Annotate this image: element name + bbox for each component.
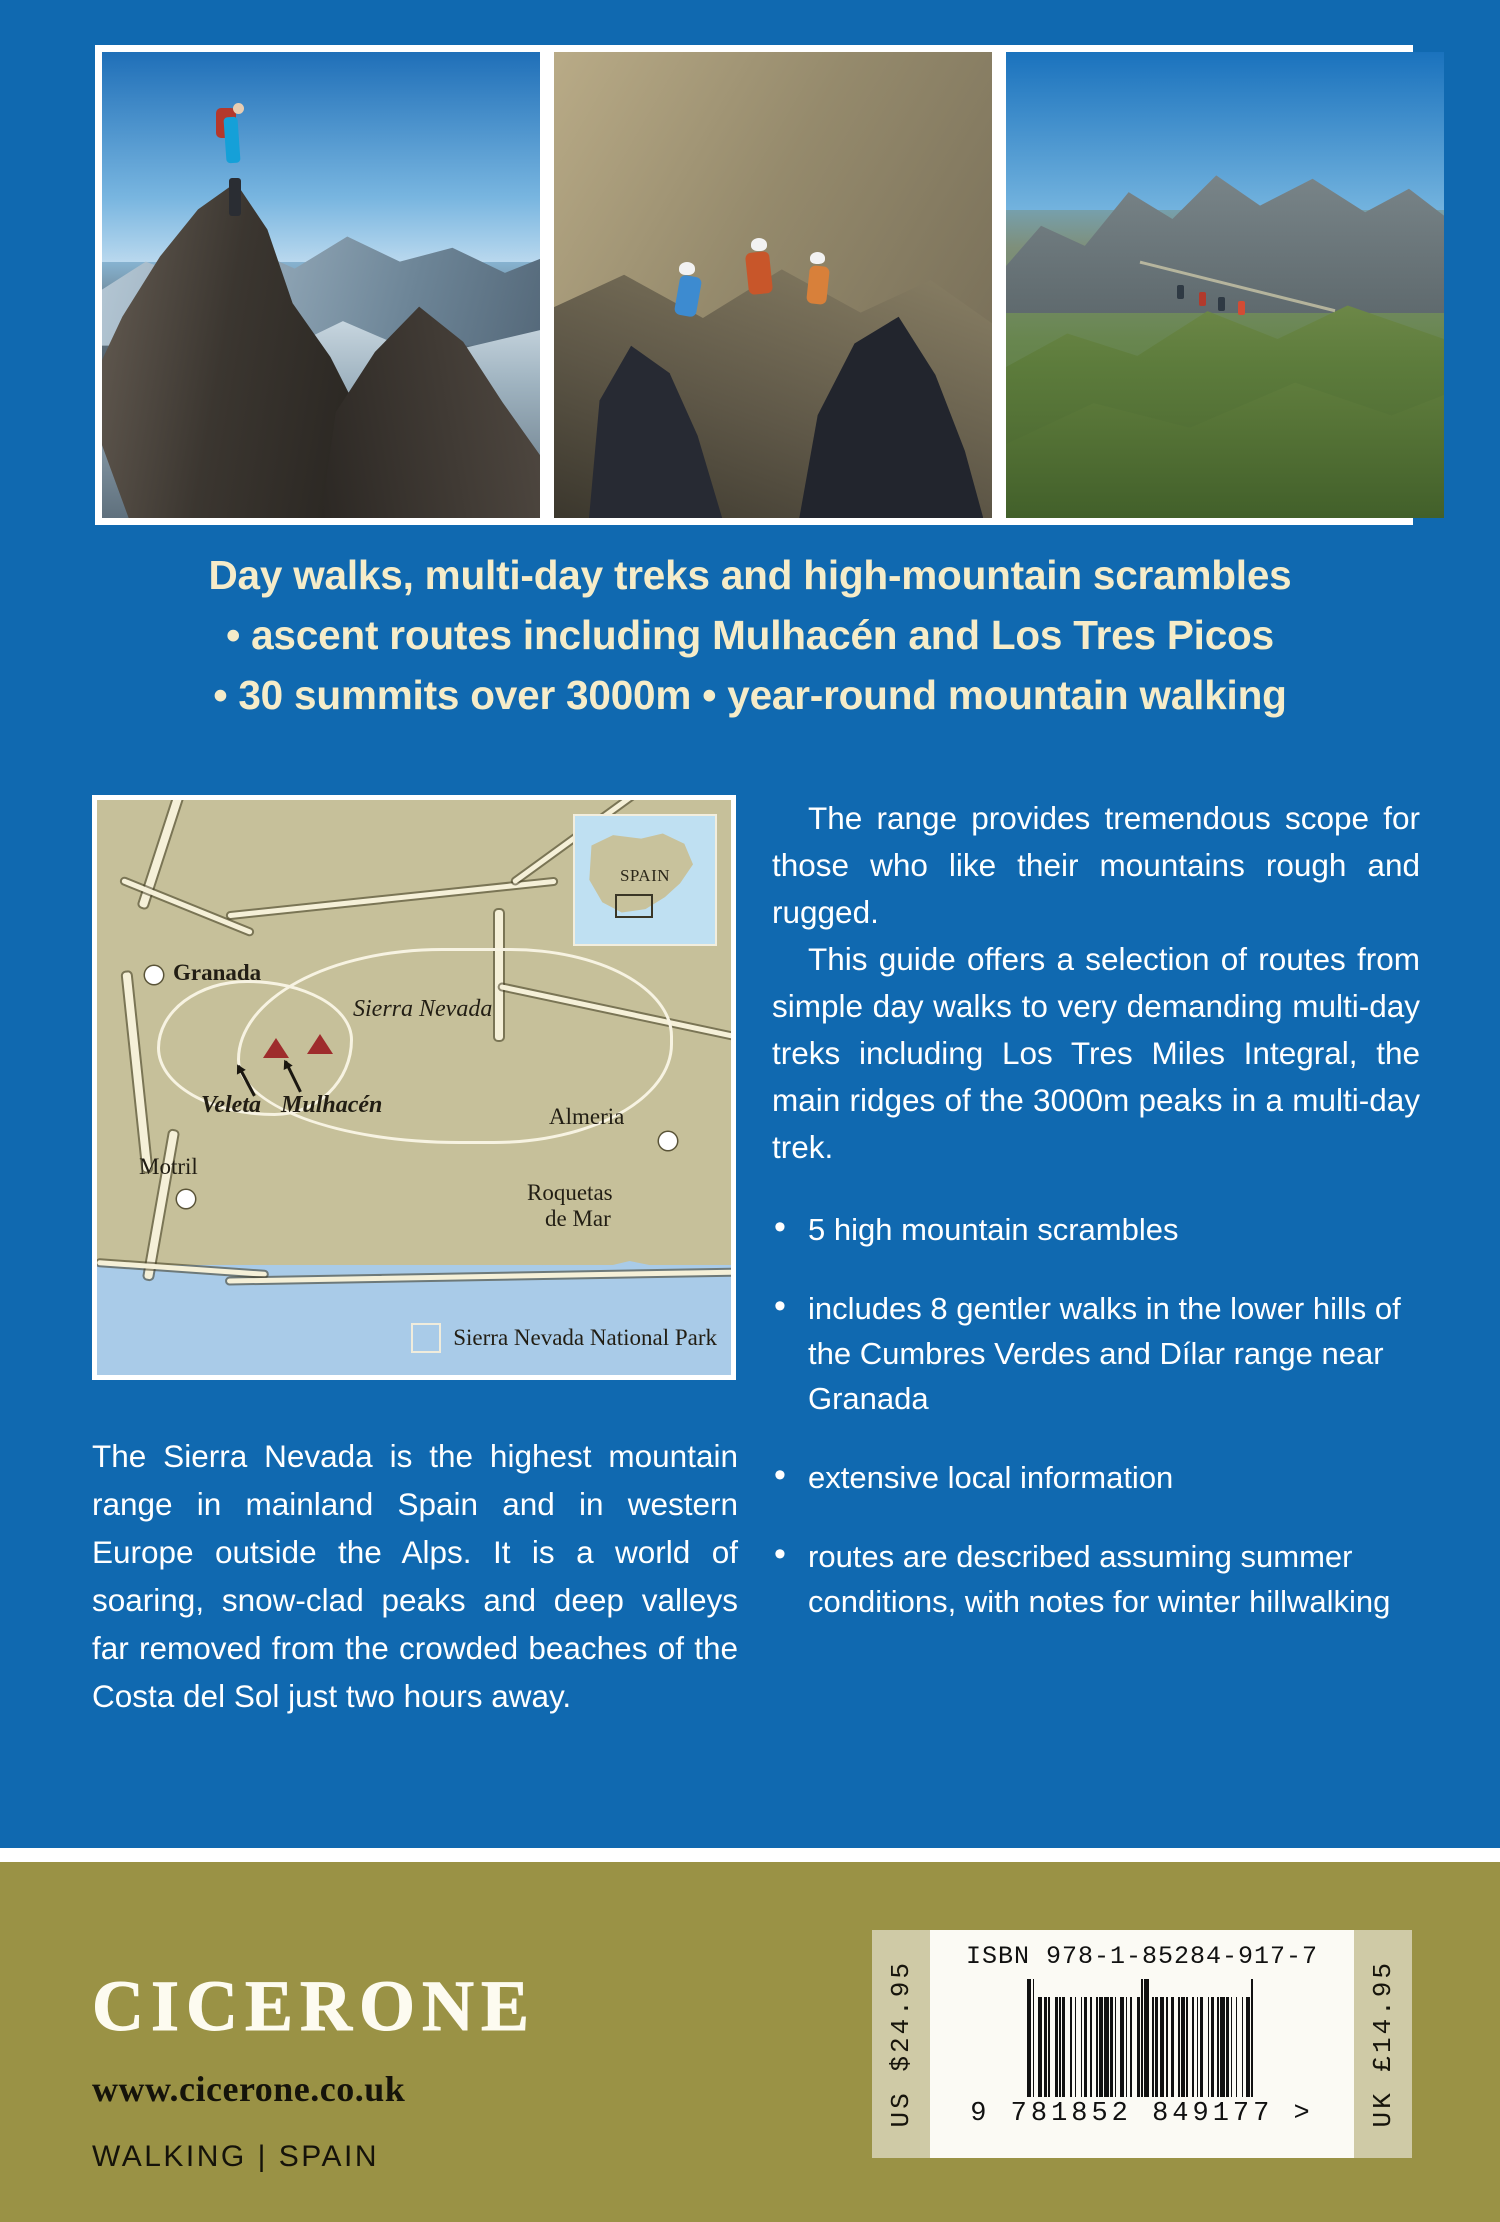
walker-legs xyxy=(229,178,241,216)
helmet-icon xyxy=(679,262,695,275)
us-price-strip: US $24.95 xyxy=(872,1930,930,2158)
footer-divider xyxy=(0,1848,1500,1862)
map-city-marker-granada xyxy=(145,966,163,984)
photo-walker-on-snowy-ridge xyxy=(102,52,540,518)
publisher-url[interactable]: www.cicerone.co.uk xyxy=(92,2068,536,2110)
walker-figure xyxy=(1238,301,1245,315)
map-legend-swatch xyxy=(411,1323,441,1353)
walker-torso xyxy=(223,117,240,164)
map-peak-marker-veleta xyxy=(263,1038,289,1058)
map-city-marker-motril xyxy=(177,1190,195,1208)
right-paragraph-2: This guide offers a selection of routes … xyxy=(772,936,1420,1171)
location-map: Granada Motril Almeria Roquetas de Mar S… xyxy=(92,795,736,1380)
headline-line-2: • ascent routes including Mulhacén and L… xyxy=(80,605,1420,665)
left-body-paragraph: The Sierra Nevada is the highest mountai… xyxy=(92,1432,738,1720)
photo-scramblers-on-rocky-ridge xyxy=(554,52,992,518)
us-price: US $24.95 xyxy=(886,1960,916,2127)
map-inset-locator-box xyxy=(615,894,653,918)
map-label-almeria: Almeria xyxy=(549,1104,624,1130)
walker-figure xyxy=(1218,297,1225,311)
helmet-icon xyxy=(810,252,825,264)
sky xyxy=(102,52,540,262)
headline-block: Day walks, multi-day treks and high-moun… xyxy=(80,545,1420,725)
map-peak-marker-mulhacen xyxy=(307,1034,333,1054)
publisher-brand-block: CICERONE www.cicerone.co.uk WALKING | SP… xyxy=(92,1970,536,2174)
map-label-veleta: Veleta xyxy=(201,1092,261,1119)
uk-price-strip: UK £14.95 xyxy=(1354,1930,1412,2158)
map-city-marker-almeria xyxy=(659,1132,677,1150)
list-item: 5 high mountain scrambles xyxy=(772,1207,1420,1252)
helmet-icon xyxy=(751,238,767,251)
right-paragraph-1: The range provides tremendous scope for … xyxy=(772,795,1420,936)
uk-price: UK £14.95 xyxy=(1368,1960,1398,2127)
list-item: includes 8 gentler walks in the lower hi… xyxy=(772,1286,1420,1421)
isbn-text: ISBN 978-1-85284-917-7 xyxy=(966,1942,1318,1971)
barcode-bars xyxy=(1027,1979,1257,2097)
walker-figure xyxy=(1177,285,1184,299)
climber-orange xyxy=(745,251,773,295)
category-label: WALKING | SPAIN xyxy=(92,2140,536,2174)
photo-walkers-on-green-ridge xyxy=(1006,52,1444,518)
map-legend-label: Sierra Nevada National Park xyxy=(453,1325,717,1351)
map-label-sierra-nevada: Sierra Nevada xyxy=(353,996,492,1023)
headline-line-1: Day walks, multi-day treks and high-moun… xyxy=(80,545,1420,605)
map-label-granada: Granada xyxy=(173,960,261,986)
ean-digits: 9 781852 849177 > xyxy=(970,2099,1313,2129)
right-column: The range provides tremendous scope for … xyxy=(772,795,1420,1658)
cicerone-logo: CICERONE xyxy=(92,1970,536,2042)
map-legend: Sierra Nevada National Park xyxy=(411,1323,717,1353)
map-label-roquetas: Roquetas xyxy=(527,1180,613,1206)
book-back-cover: Day walks, multi-day treks and high-moun… xyxy=(0,0,1500,2222)
map-inset-label: SPAIN xyxy=(575,866,715,886)
map-inset-spain: SPAIN xyxy=(573,814,717,946)
list-item: extensive local information xyxy=(772,1455,1420,1500)
map-label-roquetas-line2: de Mar xyxy=(545,1206,611,1232)
photo-strip xyxy=(95,45,1413,525)
climber-tan xyxy=(806,265,830,305)
walker-figure xyxy=(1199,292,1206,306)
map-label-motril: Motril xyxy=(139,1154,198,1180)
headline-line-3: • 30 summits over 3000m • year-round mou… xyxy=(80,665,1420,725)
map-label-mulhacen: Mulhacén xyxy=(281,1092,382,1119)
barcode-panel: ISBN 978-1-85284-917-7 9 781852 849177 > xyxy=(930,1930,1354,2158)
feature-bullet-list: 5 high mountain scrambles includes 8 gen… xyxy=(772,1207,1420,1624)
list-item: routes are described assuming summer con… xyxy=(772,1534,1420,1624)
barcode-block: US $24.95 ISBN 978-1-85284-917-7 9 78185… xyxy=(872,1930,1412,2158)
